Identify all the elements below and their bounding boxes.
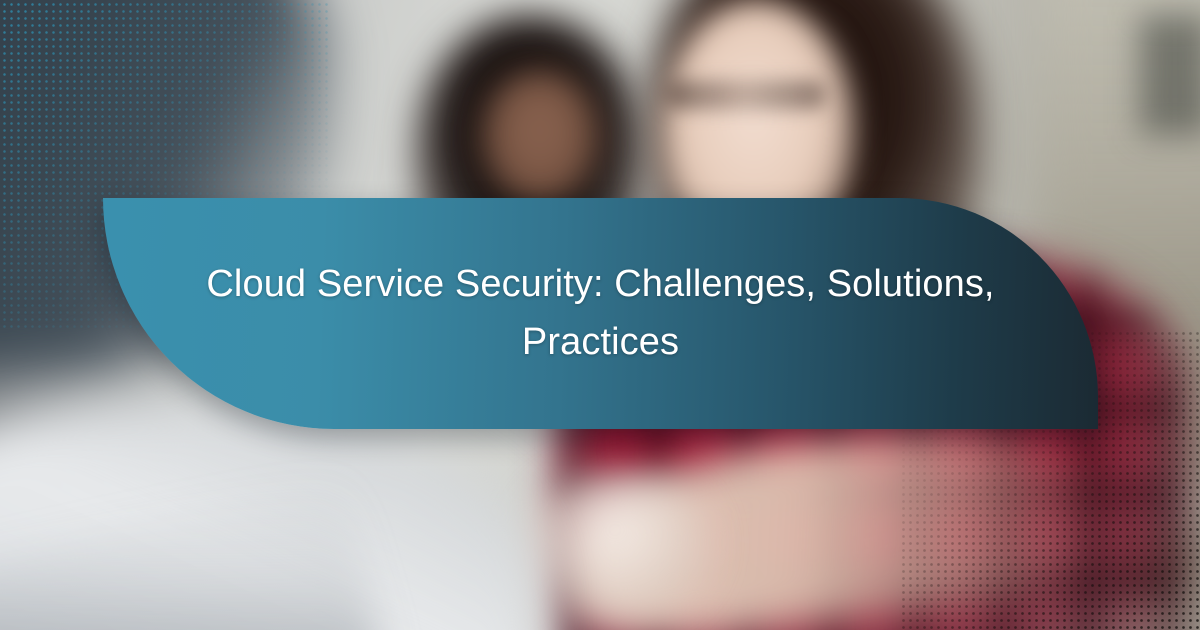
page-title: Cloud Service Security: Challenges, Solu… [151,256,1051,372]
background-right-fixture [1140,15,1200,135]
background-hand [520,470,710,620]
og-card: Cloud Service Security: Challenges, Solu… [0,0,1200,630]
background-eyeglasses [666,80,826,110]
title-banner: Cloud Service Security: Challenges, Solu… [103,198,1098,429]
background-person-back-face [480,70,600,205]
